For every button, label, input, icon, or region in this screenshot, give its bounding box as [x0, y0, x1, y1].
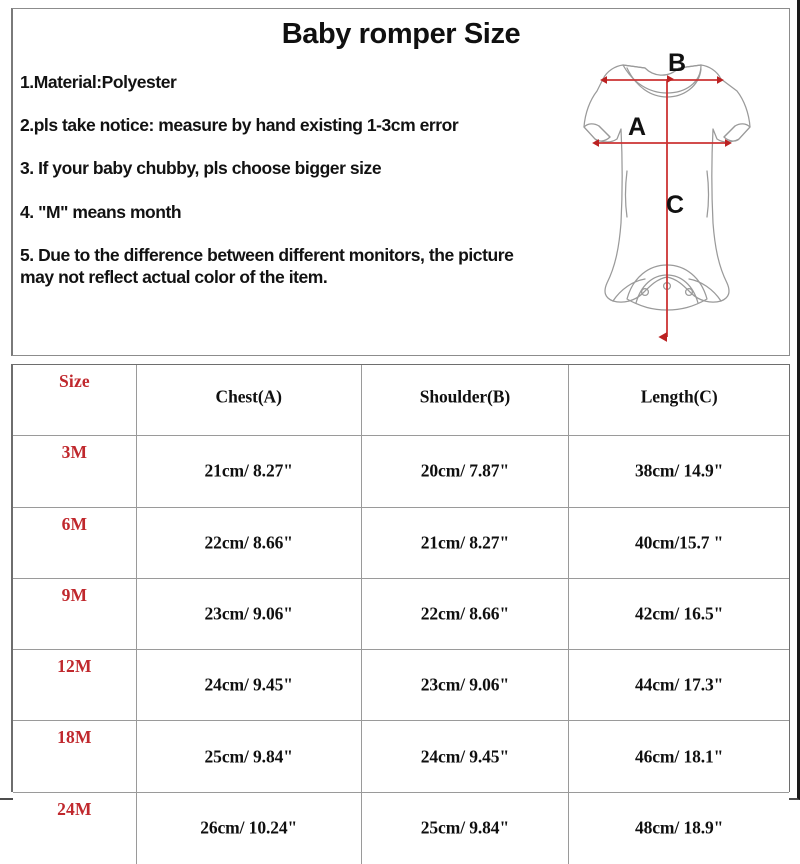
note-item: 2.pls take notice: measure by hand exist… — [20, 114, 540, 136]
shoulder-value: 25cm/ 9.84" — [362, 818, 569, 839]
cell-length: 48cm/ 18.9" — [569, 793, 789, 864]
chest-label: A — [628, 113, 646, 141]
cell-length: 40cm/15.7 " — [569, 508, 789, 578]
length-value: 48cm/ 18.9" — [569, 818, 789, 839]
note-item: 3. If your baby chubby, pls choose bigge… — [20, 157, 540, 179]
size-label: 12M — [13, 656, 136, 677]
shoulder-value: 20cm/ 7.87" — [362, 461, 569, 482]
cell-shoulder: 23cm/ 9.06" — [362, 650, 570, 720]
cell-length: 44cm/ 17.3" — [569, 650, 789, 720]
size-label: 9M — [13, 585, 136, 606]
size-label: 24M — [13, 799, 136, 820]
length-value: 40cm/15.7 " — [569, 532, 789, 553]
table-row: 3M 21cm/ 8.27" 20cm/ 7.87" 38cm/ 14.9" — [13, 436, 789, 507]
cell-size: 24M — [13, 793, 137, 864]
shoulder-label: B — [668, 53, 686, 77]
shoulder-value: 23cm/ 9.06" — [362, 675, 569, 696]
note-item: 4. "M" means month — [20, 201, 540, 223]
cell-size: 6M — [13, 508, 137, 578]
cell-shoulder: 24cm/ 9.45" — [362, 721, 570, 791]
shoulder-value: 22cm/ 8.66" — [362, 604, 569, 625]
header-label-chest: Chest(A) — [137, 387, 361, 408]
cell-shoulder: 25cm/ 9.84" — [362, 793, 570, 864]
cell-chest: 23cm/ 9.06" — [137, 579, 362, 649]
length-label: C — [666, 191, 684, 219]
table-row: 24M 26cm/ 10.24" 25cm/ 9.84" 48cm/ 18.9" — [13, 793, 789, 864]
cell-chest: 22cm/ 8.66" — [137, 508, 362, 578]
cell-length: 38cm/ 14.9" — [569, 436, 789, 506]
length-value: 38cm/ 14.9" — [569, 461, 789, 482]
size-chart-page: Baby romper Size 1.Material:Polyester 2.… — [0, 0, 800, 800]
cell-length: 42cm/ 16.5" — [569, 579, 789, 649]
cell-size: 9M — [13, 579, 137, 649]
cell-length: 46cm/ 18.1" — [569, 721, 789, 791]
table-header-row: Size Chest(A) Shoulder(B) Length(C) — [13, 365, 789, 436]
size-label: 6M — [13, 514, 136, 535]
note-item: 1.Material:Polyester — [20, 71, 540, 93]
cell-size: 3M — [13, 436, 137, 506]
table-row: 9M 23cm/ 9.06" 22cm/ 8.66" 42cm/ 16.5" — [13, 579, 789, 650]
header-label-shoulder: Shoulder(B) — [362, 387, 569, 408]
notes-list: 1.Material:Polyester 2.pls take notice: … — [20, 71, 540, 288]
table-row: 6M 22cm/ 8.66" 21cm/ 8.27" 40cm/15.7 " — [13, 508, 789, 579]
chest-value: 26cm/ 10.24" — [137, 818, 361, 839]
length-value: 42cm/ 16.5" — [569, 604, 789, 625]
cell-chest: 26cm/ 10.24" — [137, 793, 362, 864]
shoulder-value: 21cm/ 8.27" — [362, 532, 569, 553]
cell-chest: 21cm/ 8.27" — [137, 436, 362, 506]
chest-value: 24cm/ 9.45" — [137, 675, 361, 696]
romper-diagram: B A C — [541, 53, 793, 353]
table-row: 12M 24cm/ 9.45" 23cm/ 9.06" 44cm/ 17.3" — [13, 650, 789, 721]
cell-size: 18M — [13, 721, 137, 791]
cell-chest: 24cm/ 9.45" — [137, 650, 362, 720]
info-panel: Baby romper Size 1.Material:Polyester 2.… — [11, 8, 790, 356]
chest-value: 21cm/ 8.27" — [137, 461, 361, 482]
length-value: 46cm/ 18.1" — [569, 746, 789, 767]
header-cell-length: Length(C) — [569, 365, 789, 435]
cell-chest: 25cm/ 9.84" — [137, 721, 362, 791]
chest-value: 25cm/ 9.84" — [137, 746, 361, 767]
cell-shoulder: 21cm/ 8.27" — [362, 508, 570, 578]
table-row: 18M 25cm/ 9.84" 24cm/ 9.45" 46cm/ 18.1" — [13, 721, 789, 792]
size-table: Size Chest(A) Shoulder(B) Length(C) 3M 2… — [11, 364, 790, 792]
cell-shoulder: 22cm/ 8.66" — [362, 579, 570, 649]
header-cell-shoulder: Shoulder(B) — [362, 365, 570, 435]
cell-size: 12M — [13, 650, 137, 720]
header-label-length: Length(C) — [569, 387, 789, 408]
length-value: 44cm/ 17.3" — [569, 675, 789, 696]
chest-value: 23cm/ 9.06" — [137, 604, 361, 625]
header-cell-size: Size — [13, 365, 137, 435]
cell-shoulder: 20cm/ 7.87" — [362, 436, 570, 506]
note-item: 5. Due to the difference between differe… — [20, 244, 540, 288]
size-label: 3M — [13, 442, 136, 463]
page-title: Baby romper Size — [13, 18, 789, 51]
header-label-size: Size — [13, 371, 136, 392]
chest-value: 22cm/ 8.66" — [137, 532, 361, 553]
header-cell-chest: Chest(A) — [137, 365, 362, 435]
shoulder-value: 24cm/ 9.45" — [362, 746, 569, 767]
size-label: 18M — [13, 727, 136, 748]
